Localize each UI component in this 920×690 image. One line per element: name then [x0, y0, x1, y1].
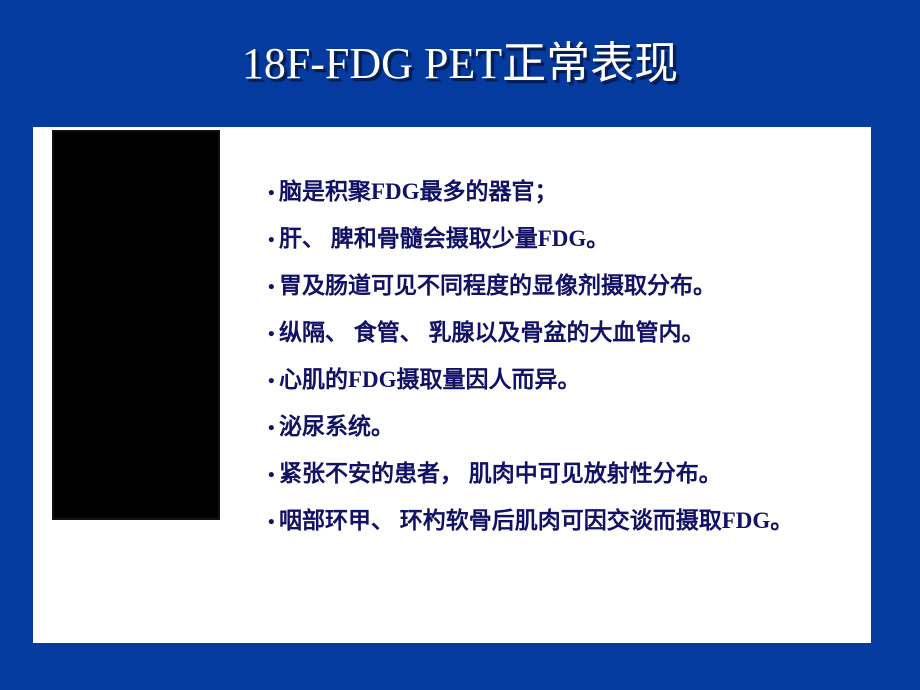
- presentation-slide: 18F-FDG PET正常表现 • 脑是积聚FDG最多的器官； • 肝、 脾和骨…: [0, 0, 920, 690]
- slide-title: 18F-FDG PET正常表现: [242, 41, 678, 87]
- pet-scan-image: [54, 132, 218, 518]
- list-item: • 脑是积聚FDG最多的器官；: [268, 172, 868, 219]
- bullet-marker-icon: •: [268, 325, 279, 344]
- bullet-marker-icon: •: [268, 184, 279, 203]
- list-item: • 肝、 脾和骨髓会摄取少量FDG。: [268, 219, 868, 266]
- bullet-marker-icon: •: [268, 466, 279, 485]
- list-item: • 纵隔、 食管、 乳腺以及骨盆的大血管内。: [268, 313, 868, 360]
- bullet-text: 胃及肠道可见不同程度的显像剂摄取分布。: [279, 266, 716, 300]
- bullet-text: 泌尿系统。: [279, 407, 394, 441]
- slide-title-area: 18F-FDG PET正常表现: [0, 33, 920, 95]
- list-item: • 咽部环甲、 环杓软骨后肌肉可因交谈而摄取FDG。: [268, 501, 868, 548]
- content-panel: • 脑是积聚FDG最多的器官； • 肝、 脾和骨髓会摄取少量FDG。 • 胃及肠…: [33, 127, 871, 643]
- list-item: • 胃及肠道可见不同程度的显像剂摄取分布。: [268, 266, 868, 313]
- pet-scan-figure: [52, 130, 220, 520]
- list-item: • 泌尿系统。: [268, 407, 868, 454]
- bullet-marker-icon: •: [268, 513, 279, 532]
- bullet-text: 肝、 脾和骨髓会摄取少量FDG。: [279, 219, 609, 253]
- bullet-text: 紧张不安的患者， 肌肉中可见放射性分布。: [279, 454, 722, 488]
- bullet-marker-icon: •: [268, 231, 279, 250]
- bullet-text: 咽部环甲、 环杓软骨后肌肉可因交谈而摄取FDG。: [279, 501, 793, 535]
- list-item: • 心肌的FDG摄取量因人而异。: [268, 360, 868, 407]
- bullet-text: 纵隔、 食管、 乳腺以及骨盆的大血管内。: [279, 313, 705, 347]
- list-item: • 紧张不安的患者， 肌肉中可见放射性分布。: [268, 454, 868, 501]
- bullet-marker-icon: •: [268, 278, 279, 297]
- bullet-text: 心肌的FDG摄取量因人而异。: [279, 360, 581, 394]
- bullet-marker-icon: •: [268, 419, 279, 438]
- bullet-text: 脑是积聚FDG最多的器官；: [279, 172, 558, 206]
- bullet-list: • 脑是积聚FDG最多的器官； • 肝、 脾和骨髓会摄取少量FDG。 • 胃及肠…: [268, 172, 868, 548]
- bullet-marker-icon: •: [268, 372, 279, 391]
